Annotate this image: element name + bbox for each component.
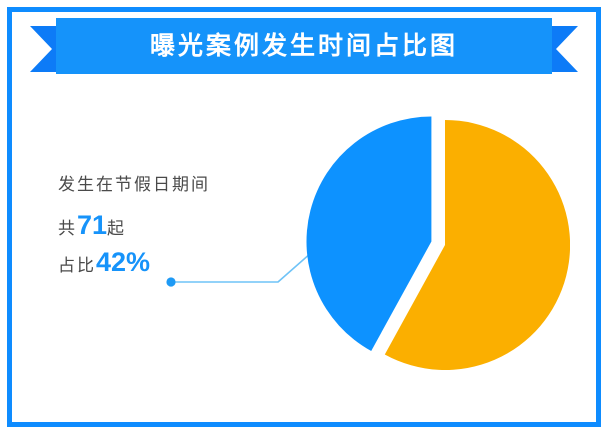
callout-count-prefix: 共: [58, 219, 77, 238]
pie-chart: [290, 100, 570, 385]
callout-line-1: 发生在节假日期间: [58, 176, 288, 194]
callout-line-1-label: 发生在节假日期间: [58, 175, 210, 194]
title-banner: 曝光案例发生时间占比图: [0, 18, 608, 74]
callout-count-value: 71: [77, 210, 107, 240]
callout-percent-prefix: 占比: [58, 256, 96, 275]
callout-count-suffix: 起: [107, 219, 126, 238]
banner-body: 曝光案例发生时间占比图: [56, 18, 552, 74]
leader-dot-icon: [166, 277, 175, 286]
infographic-canvas: 曝光案例发生时间占比图 发生在节假日期间 共71起 占比42%: [0, 0, 608, 434]
callout-percent-value: 42%: [96, 247, 150, 277]
page-title: 曝光案例发生时间占比图: [150, 34, 458, 59]
